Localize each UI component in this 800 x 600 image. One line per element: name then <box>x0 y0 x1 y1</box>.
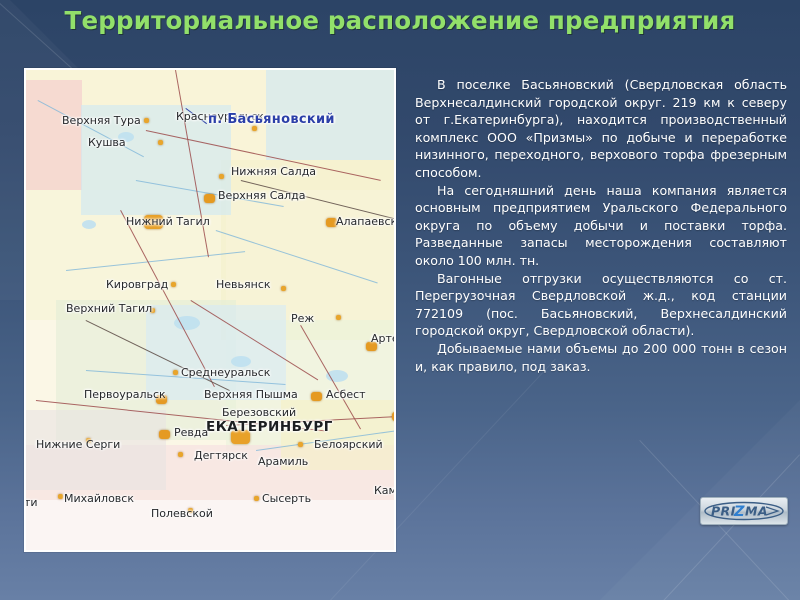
map-city-dot <box>336 315 341 320</box>
map-city-dot <box>219 174 224 179</box>
page-title: Территориальное расположение предприятия <box>0 6 800 35</box>
map-city-dot <box>298 442 303 447</box>
map-region-northwest-pink <box>26 80 82 190</box>
map-city-dot <box>173 370 178 375</box>
map-label: Верхняя Тура <box>62 114 141 127</box>
map-city-dot <box>158 140 163 145</box>
map-label: Артемовский <box>371 332 394 345</box>
map-label: ти <box>26 496 38 509</box>
map-label: Невьянск <box>216 278 271 291</box>
map-city-dot <box>392 412 394 421</box>
map-label: Дегтярск <box>194 449 248 462</box>
paragraph-company: На сегодняшний день наша компания являет… <box>415 182 787 270</box>
map-label: Березовский <box>222 406 296 419</box>
map-label: Верхняя Салда <box>218 189 306 202</box>
map-label: Верхняя Пышма <box>204 388 298 401</box>
decorative-triangle-bottom-right <box>430 340 800 600</box>
map-canvas: Верхняя ТураКрасноуральскКушвап. Басьяно… <box>26 70 394 550</box>
map-label: Белоярский <box>314 438 383 451</box>
map-image[interactable]: Верхняя ТураКрасноуральскКушвап. Басьяно… <box>24 68 396 552</box>
map-label: Кушва <box>88 136 126 149</box>
slide-canvas: Территориальное расположение предприятия <box>0 0 800 600</box>
map-lake <box>82 220 96 229</box>
map-label: Среднеуральск <box>181 366 270 379</box>
paragraph-shipping: Вагонные отгрузки осуществляются со ст. … <box>415 270 787 340</box>
map-label: Ревда <box>174 426 208 439</box>
map-label: п. Басьяновский <box>208 112 335 127</box>
map-city-dot <box>144 118 149 123</box>
map-label: Нижние Серги <box>36 438 120 451</box>
map-city-dot <box>254 496 259 501</box>
map-label: Алапаевск <box>336 215 394 228</box>
map-city-dot <box>281 286 286 291</box>
map-city-dot <box>311 392 322 401</box>
svg-text:PRI: PRI <box>711 504 736 519</box>
map-label: Михайловск <box>64 492 134 505</box>
description-text-block: В поселке Басьяновский (Свердловская обл… <box>415 76 787 375</box>
map-label: ЕКАТЕРИНБУРГ <box>206 419 333 435</box>
prizma-logo[interactable]: PRI Z MA <box>700 497 788 525</box>
map-region-south-center-blue <box>146 305 286 400</box>
svg-text:Z: Z <box>733 504 745 520</box>
paragraph-location: В поселке Басьяновский (Свердловская обл… <box>415 76 787 182</box>
map-label: Кам <box>374 484 394 497</box>
map-label: Арамиль <box>258 455 308 468</box>
map-city-dot <box>58 494 63 499</box>
prizma-logo-icon: PRI Z MA <box>704 501 784 521</box>
map-label: Первоуральск <box>84 388 166 401</box>
map-label: Кировград <box>106 278 168 291</box>
map-city-dot <box>178 452 183 457</box>
map-city-dot <box>171 282 176 287</box>
map-label: Реж <box>291 312 314 325</box>
map-label: Нижняя Салда <box>231 165 316 178</box>
map-label: Нижний Тагил <box>126 215 210 228</box>
paragraph-volumes: Добываемые нами объемы до 200 000 тонн в… <box>415 340 787 375</box>
map-city-dot <box>204 194 215 203</box>
map-label: Верхний Тагил <box>66 302 152 315</box>
map-label: Полевской <box>151 507 213 520</box>
map-label: Сысерть <box>262 492 311 505</box>
map-city-dot <box>159 430 170 439</box>
svg-text:MA: MA <box>745 504 768 519</box>
map-label: Асбест <box>326 388 366 401</box>
